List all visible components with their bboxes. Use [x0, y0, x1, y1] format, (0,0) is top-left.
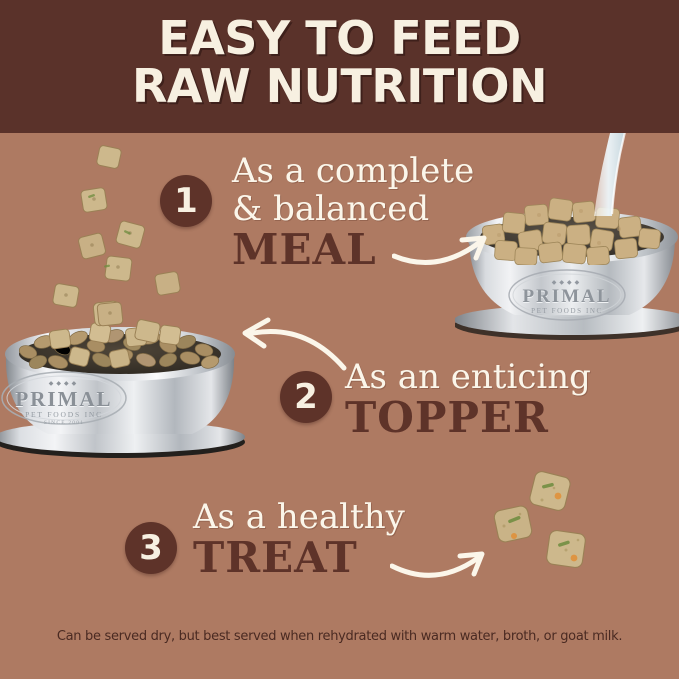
bowl-brand-logo: ◆◆◆◆ PRIMAL PET FOODS INC	[511, 280, 623, 316]
page-title: EASY TO FEED RAW NUTRITION	[0, 14, 679, 110]
falling-nuggets-group	[40, 145, 230, 345]
step-2-badge: 2	[280, 371, 332, 423]
brand-sub: PET FOODS INC	[511, 307, 623, 316]
step-3-emphasis: TREAT	[193, 536, 405, 580]
step-1-line-1: As a complete	[232, 152, 474, 190]
brand-sub: PET FOODS INC	[4, 410, 124, 419]
step-2-number: 2	[294, 380, 318, 414]
headline-line-1: EASY TO FEED	[158, 11, 520, 65]
step-3-line-1: As a healthy	[193, 498, 405, 536]
step-1-badge: 1	[160, 175, 212, 227]
brand-tag: SINCE 2001	[4, 419, 124, 427]
infographic-canvas: ◆◆◆◆ PRIMAL PET FOODS INC	[0, 0, 679, 679]
brand-name: PRIMAL	[511, 287, 623, 307]
headline-line-2: RAW NUTRITION	[0, 62, 679, 110]
bowl-brand-logo: ◆◆◆◆ PRIMAL PET FOODS INC SINCE 2001	[4, 381, 124, 427]
treat-nuggets-group	[470, 470, 620, 590]
step-2-text: As an enticing TOPPER	[345, 358, 591, 440]
footer-note: Can be served dry, but best served when …	[0, 629, 679, 644]
step-2-emphasis: TOPPER	[345, 396, 591, 440]
step-1-number: 1	[174, 184, 198, 218]
step-2-line-1: As an enticing	[345, 358, 591, 396]
step-1-text: As a complete & balanced MEAL	[232, 152, 474, 272]
step-3-number: 3	[139, 531, 163, 565]
step-1-emphasis: MEAL	[232, 228, 474, 272]
step-1-line-2: & balanced	[232, 190, 474, 228]
brand-name: PRIMAL	[4, 388, 124, 410]
step-3-text: As a healthy TREAT	[193, 498, 405, 580]
step-3-badge: 3	[125, 522, 177, 574]
